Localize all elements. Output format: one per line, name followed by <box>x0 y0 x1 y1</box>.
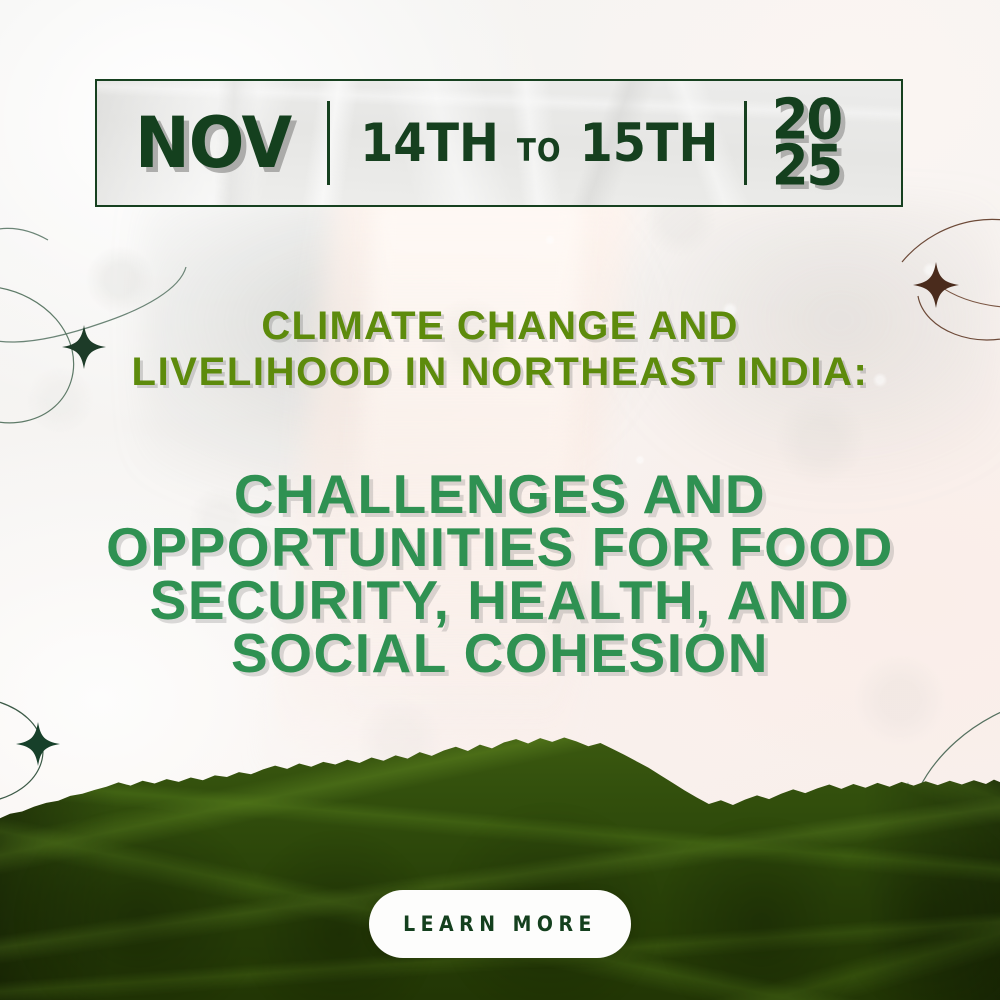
date-year: 20 25 <box>772 97 841 189</box>
learn-more-button[interactable]: LEARN MORE <box>369 890 631 958</box>
title-line-2: OPPORTUNITIES FOR FOOD <box>0 521 1000 574</box>
date-year-bottom: 25 <box>772 143 841 189</box>
grass-shadows <box>0 730 1000 1000</box>
date-day-start: 14TH <box>360 117 499 170</box>
grass-silhouette <box>0 730 1000 1000</box>
subtitle-line-2: LIVELIHOOD IN NORTHEAST INDIA: <box>0 349 1000 395</box>
date-day-end: 15TH <box>580 117 719 170</box>
date-connector: TO <box>517 136 562 167</box>
date-banner: NOV 14TH TO 15TH 20 25 <box>95 79 903 207</box>
banner-divider-1 <box>327 101 330 185</box>
title-line-3: SECURITY, HEALTH, AND <box>0 574 1000 627</box>
banner-divider-2 <box>744 101 747 185</box>
title-line-4: SOCIAL COHESION <box>0 627 1000 680</box>
date-range: 14TH TO 15TH <box>360 117 718 170</box>
grass-blade-highlights <box>0 730 1000 1000</box>
event-poster: NOV 14TH TO 15TH 20 25 CLIMATE CHANGE AN… <box>0 0 1000 1000</box>
title-line-1: CHALLENGES AND <box>0 468 1000 521</box>
poster-subtitle: CLIMATE CHANGE AND LIVELIHOOD IN NORTHEA… <box>0 303 1000 395</box>
poster-title: CHALLENGES AND OPPORTUNITIES FOR FOOD SE… <box>0 468 1000 680</box>
date-month: NOV <box>135 108 291 178</box>
grass-band <box>0 730 1000 1000</box>
subtitle-line-1: CLIMATE CHANGE AND <box>0 303 1000 349</box>
